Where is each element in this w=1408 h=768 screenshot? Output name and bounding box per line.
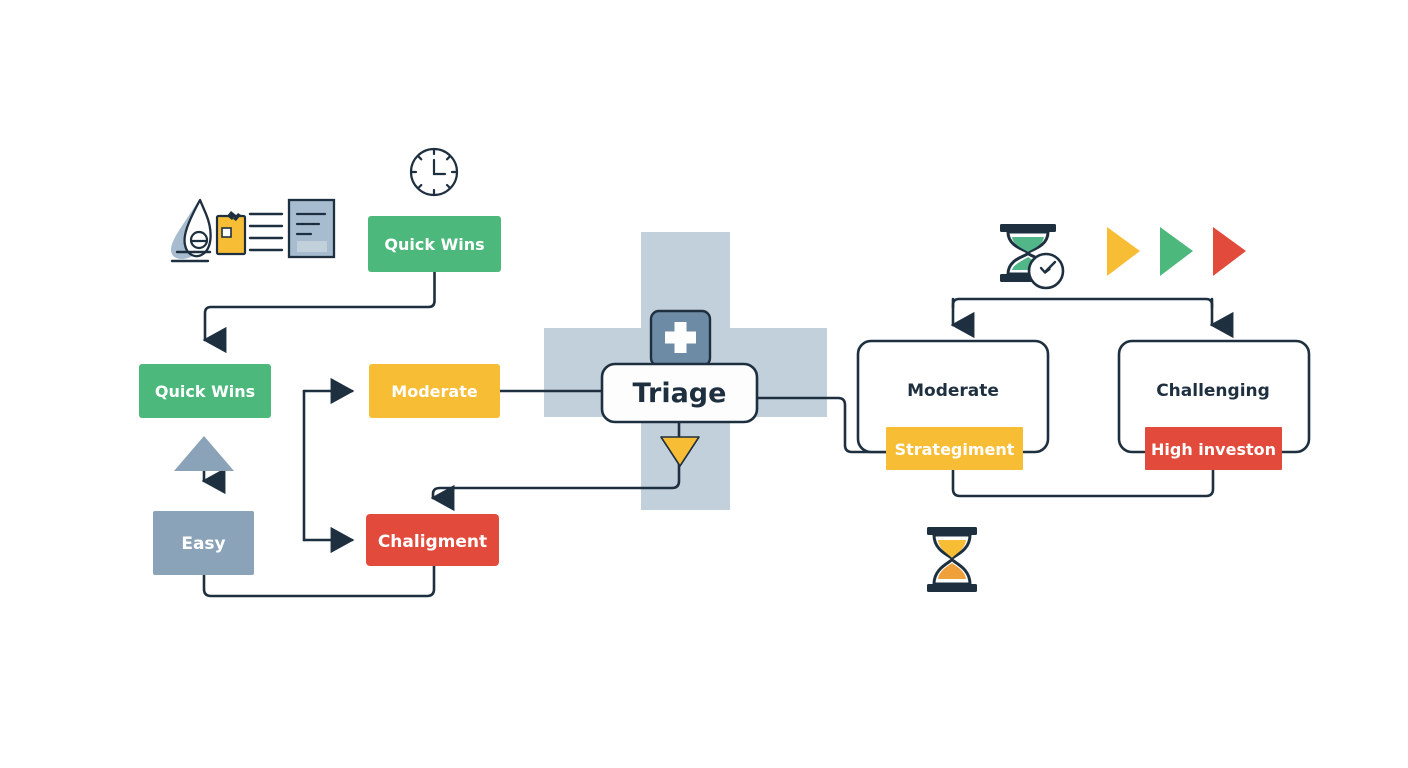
play-triangle-icon — [1213, 227, 1246, 276]
text-lines-icon — [250, 214, 282, 250]
document-icon — [289, 200, 334, 257]
water-drop-icon — [171, 200, 211, 261]
diagram-canvas: Moderate Challenging Quick Wins Quick Wi… — [0, 0, 1408, 768]
play-triangle-icon — [1107, 227, 1140, 276]
hourglass-icon — [927, 527, 977, 592]
hourglass-clock-icon — [1000, 224, 1063, 288]
clock-icon — [411, 149, 457, 195]
clipboard-icon — [217, 211, 245, 254]
icons-layer — [0, 0, 1408, 768]
play-triangle-icon — [1160, 227, 1193, 276]
